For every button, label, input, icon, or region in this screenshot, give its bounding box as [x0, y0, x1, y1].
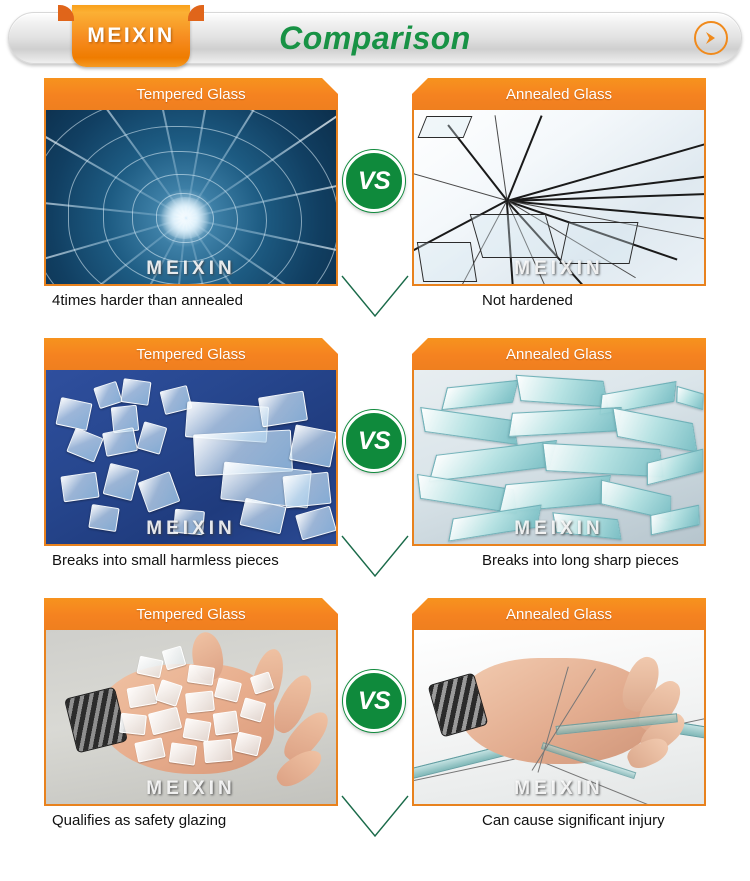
panel-tempered: Tempered Glass — [44, 598, 338, 806]
watermark: MEIXIN — [414, 518, 704, 540]
panel-caption: Breaks into small harmless pieces — [52, 552, 279, 569]
panel-caption: 4times harder than annealed — [52, 292, 243, 309]
panel-banner-label: Tempered Glass — [136, 86, 245, 103]
watermark: MEIXIN — [414, 258, 704, 280]
panel-banner: Annealed Glass — [412, 598, 706, 630]
panel-caption: Breaks into long sharp pieces — [482, 552, 679, 569]
panel-tempered: Tempered Glass — [44, 78, 338, 286]
comparison-row: Tempered Glass — [0, 338, 750, 598]
panel-banner: Tempered Glass — [44, 598, 338, 630]
panel-banner-label: Annealed Glass — [506, 346, 612, 363]
vs-badge-label: VS — [358, 687, 390, 716]
panel-photo[interactable]: MEIXIN — [412, 110, 706, 286]
watermark: MEIXIN — [46, 778, 336, 800]
watermark: MEIXIN — [46, 258, 336, 280]
panel-banner: Tempered Glass — [44, 78, 338, 110]
row-connector-chevron — [340, 534, 410, 580]
vs-badge: VS — [343, 670, 405, 732]
vs-badge-label: VS — [358, 427, 390, 456]
panel-photo[interactable]: MEIXIN — [44, 110, 338, 286]
panel-annealed: Annealed Glass — [412, 598, 706, 806]
comparison-row: Tempered Glass — [0, 78, 750, 338]
panel-annealed: Annealed Glass — [412, 78, 706, 286]
panel-banner-label: Tempered Glass — [136, 606, 245, 623]
panel-caption: Qualifies as safety glazing — [52, 812, 226, 829]
panel-banner: Annealed Glass — [412, 78, 706, 110]
panel-photo[interactable]: MEIXIN — [412, 630, 706, 806]
panel-photo[interactable]: MEIXIN — [44, 630, 338, 806]
panel-banner: Tempered Glass — [44, 338, 338, 370]
chevron-right-icon[interactable] — [694, 21, 728, 55]
page-header: MEIXIN Comparison — [0, 0, 750, 78]
brand-logo-tab[interactable]: MEIXIN — [72, 5, 190, 67]
comparison-grid: Tempered Glass — [0, 78, 750, 860]
watermark: MEIXIN — [46, 518, 336, 540]
panel-photo[interactable]: MEIXIN — [412, 370, 706, 546]
panel-annealed: Annealed Glass — [412, 338, 706, 546]
comparison-row: Tempered Glass — [0, 598, 750, 860]
brand-logo-text: MEIXIN — [87, 24, 174, 48]
panel-caption: Not hardened — [482, 292, 573, 309]
panel-photo[interactable]: MEIXIN — [44, 370, 338, 546]
row-connector-chevron — [340, 794, 410, 840]
vs-badge: VS — [343, 410, 405, 472]
panel-banner-label: Tempered Glass — [136, 346, 245, 363]
panel-caption: Can cause significant injury — [482, 812, 665, 829]
row-connector-chevron — [340, 274, 410, 320]
panel-banner-label: Annealed Glass — [506, 606, 612, 623]
vs-badge: VS — [343, 150, 405, 212]
watermark: MEIXIN — [414, 778, 704, 800]
panel-tempered: Tempered Glass — [44, 338, 338, 546]
panel-banner: Annealed Glass — [412, 338, 706, 370]
vs-badge-label: VS — [358, 167, 390, 196]
panel-banner-label: Annealed Glass — [506, 86, 612, 103]
